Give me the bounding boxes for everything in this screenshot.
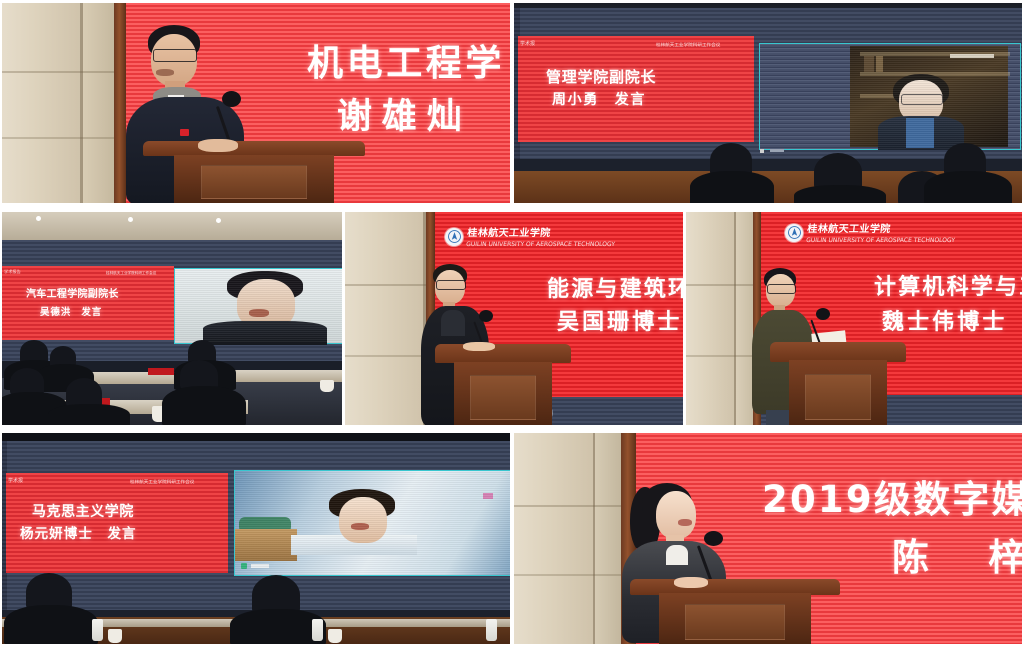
panel-2-slide-header: 桂林航天工业学院科研工作会议 <box>656 42 720 48</box>
panel-7-podium <box>630 579 840 644</box>
panel-4-slide-subtitle: 吴国珊博士 <box>557 304 682 336</box>
panel-1-podium <box>143 141 365 203</box>
panel-2-video-tile <box>759 43 1021 150</box>
panel-6-slide-subtitle: 杨元妍博士 发言 <box>20 522 137 542</box>
photo-collage: 机电工程学 谢雄灿 <box>0 0 1024 646</box>
panel-3-slide-title: 汽车工程学院副院长 <box>26 288 119 303</box>
panel-3-slide-subtitle: 吴德洪 发言 <box>40 304 102 318</box>
panel-2-corner-label: 学术报 <box>520 40 535 47</box>
panel-1-slide-title: 机电工程学 <box>307 38 505 90</box>
university-crest-icon <box>445 228 463 246</box>
panel-5-podium <box>770 342 906 425</box>
panel-6-video-tile <box>234 470 510 576</box>
panel-7-slide-subtitle: 陈 梓 <box>892 527 1022 581</box>
panel-4-logo-name: 桂林航天工业学院 <box>467 228 551 239</box>
panel-5-logo-name: 桂林航天工业学院 <box>807 224 891 235</box>
panel-4-slide-title: 能源与建筑环 <box>547 274 683 306</box>
university-crest-icon <box>785 224 803 242</box>
panel-6-slide-title: 马克思主义学院 <box>32 502 134 522</box>
panel-5-speaker-glasses <box>767 284 796 294</box>
panel-3-corner-label: 学术报告 <box>4 269 21 275</box>
panel-4-podium <box>435 344 571 425</box>
panel-4-university-logo: 桂林航天工业学院 GUILIN UNIVERSITY OF AEROSPACE … <box>445 224 674 249</box>
panel-5-university-logo: 桂林航天工业学院 GUILIN UNIVERSITY OF AEROSPACE … <box>785 220 1014 245</box>
panel-5-slide-title: 计算机科学与工 <box>874 272 1022 304</box>
panel-6-corner-label: 学术报 <box>8 477 23 484</box>
panel-1-slide-subtitle: 谢雄灿 <box>337 88 471 139</box>
photo-panel-6: 学术报 桂林航天工业学院科研工作会议 马克思主义学院 杨元妍博士 发言 <box>2 433 510 644</box>
panel-1-lapel-pin <box>180 129 189 136</box>
panel-4-speaker-glasses <box>436 280 466 290</box>
photo-panel-2: 学术报 桂林航天工业学院科研工作会议 管理学院副院长 周小勇 发言 <box>514 3 1022 203</box>
panel-5-slide-subtitle: 魏士伟博士 <box>882 304 1007 336</box>
photo-panel-4: 桂林航天工业学院 GUILIN UNIVERSITY OF AEROSPACE … <box>345 212 683 425</box>
panel-2-slide-title: 管理学院副院长 <box>546 67 656 89</box>
panel-5-logo-name-en: GUILIN UNIVERSITY OF AEROSPACE TECHNOLOG… <box>806 236 956 243</box>
photo-panel-5: 桂林航天工业学院 GUILIN UNIVERSITY OF AEROSPACE … <box>686 212 1022 425</box>
panel-3-slide-header: 桂林航天工业学院科研工作会议 <box>106 271 156 276</box>
panel-4-logo-name-en: GUILIN UNIVERSITY OF AEROSPACE TECHNOLOG… <box>466 240 616 247</box>
photo-panel-7: 2019级数字媒体 陈 梓 <box>514 433 1022 644</box>
photo-panel-1: 机电工程学 谢雄灿 <box>2 3 510 203</box>
panel-2-slide-subtitle: 周小勇 发言 <box>552 89 646 109</box>
panel-1-speaker-glasses <box>153 49 197 62</box>
photo-panel-3: 学术报告 桂林航天工业学院科研工作会议 汽车工程学院副院长 吴德洪 发言 <box>2 212 342 425</box>
panel-3-red-backdrop <box>2 266 174 340</box>
panel-7-slide-title: 2019级数字媒体 <box>762 473 1022 527</box>
panel-3-video-tile <box>174 268 342 344</box>
panel-6-slide-header: 桂林航天工业学院科研工作会议 <box>130 479 194 485</box>
